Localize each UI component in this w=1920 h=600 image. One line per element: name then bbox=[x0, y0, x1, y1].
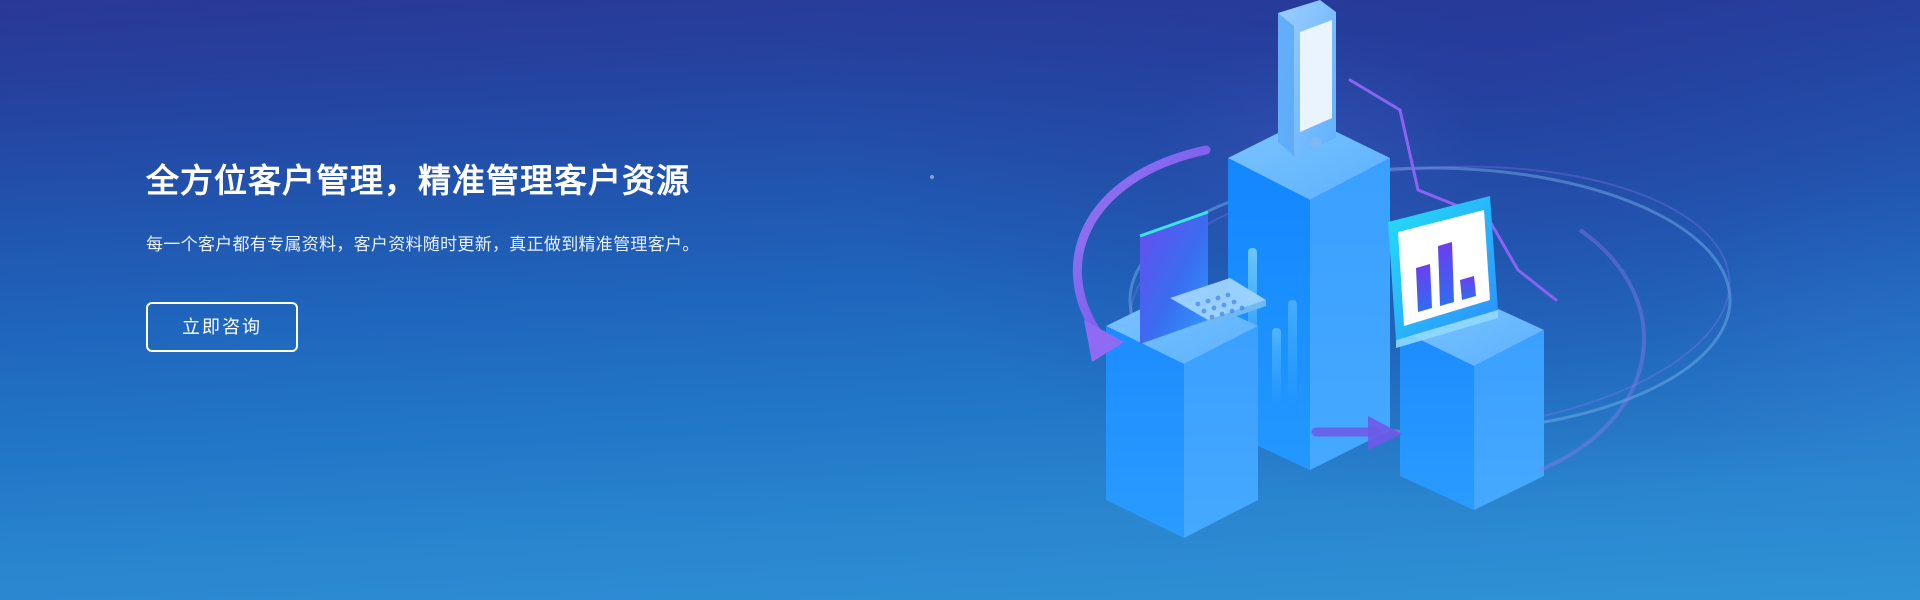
orbit-arc-highlight bbox=[1540, 230, 1644, 470]
tablet-device-icon bbox=[1278, 0, 1336, 156]
hero-illustration bbox=[1020, 0, 1920, 600]
hero-headline: 全方位客户管理，精准管理客户资源 bbox=[146, 160, 766, 203]
hero-copy-block: 全方位客户管理，精准管理客户资源 每一个客户都有专属资料，客户资料随时更新，真正… bbox=[146, 160, 766, 352]
hero-banner: 全方位客户管理，精准管理客户资源 每一个客户都有专属资料，客户资料随时更新，真正… bbox=[0, 0, 1920, 600]
sparkle-dot bbox=[930, 175, 934, 179]
hero-subcopy: 每一个客户都有专属资料，客户资料随时更新，真正做到精准管理客户。 bbox=[146, 231, 731, 259]
consult-now-button[interactable]: 立即咨询 bbox=[146, 302, 298, 352]
